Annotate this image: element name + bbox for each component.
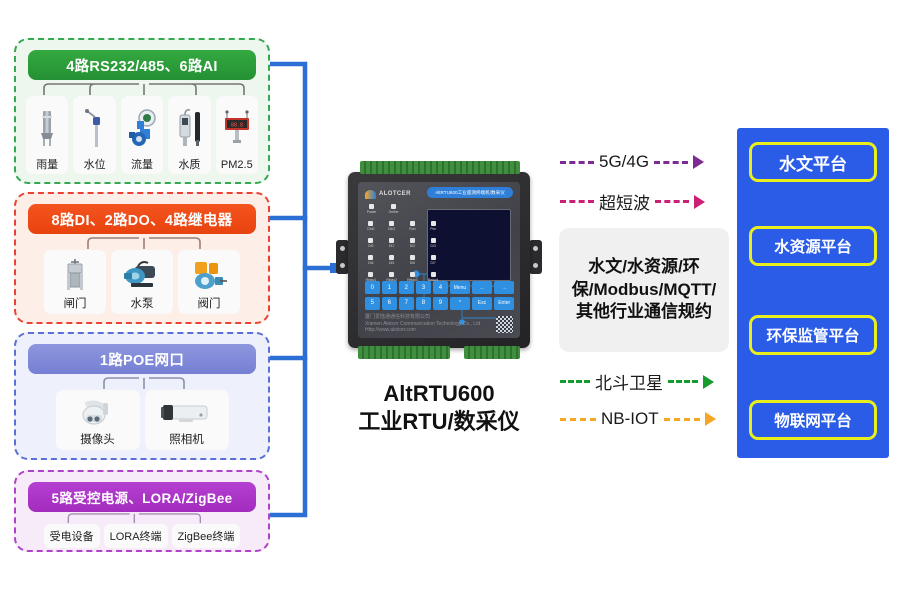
valve-actuator-icon [180,253,238,297]
led-di6: DI6 [407,255,419,265]
card-ptz-camera[interactable]: 摄像头 [56,390,140,450]
device-name-label: AltRTU600 工业RTU/数采仪 [330,380,548,436]
key-8[interactable]: 8 [416,297,431,310]
device-type-name: 工业RTU/数采仪 [330,408,548,436]
sluice-gate-icon [46,253,104,297]
dashed-line-left [560,200,594,203]
mounting-ear-right [529,240,542,274]
key-3[interactable]: 3 [416,281,431,294]
lcd-screen[interactable] [427,209,511,281]
led-din2: Din2 [386,221,398,231]
platform-hydrology[interactable]: 水文平台 [749,142,877,182]
brace-power [28,513,241,524]
key-5[interactable]: 5 [365,297,380,310]
arrow-head-icon [694,195,705,209]
sensor-card-list: 雨量 水位 [26,96,258,174]
key-6[interactable]: 6 [382,297,397,310]
key-esc[interactable]: Esc [472,297,492,310]
chip-lora-terminal[interactable]: LORA终端 [104,524,168,548]
dashed-line-left [560,161,594,164]
led-di3: DI3 [427,238,439,248]
group-header-serial-ai: 4路RS232/485、6路AI [28,50,256,80]
card-flow-meter[interactable]: 流量 [121,96,163,174]
endpoint-chip-list: 受电设备 LORA终端 ZigBee终端 [26,524,258,548]
terminal-block-bottom-left [358,346,450,359]
key-right-arrow[interactable]: → [494,281,514,294]
rtu-chassis: ALOTCER AltRTU600工业遥测终端机/数采仪 Power Onlin… [348,172,530,348]
key-7[interactable]: 7 [399,297,414,310]
water-pump-icon [113,253,171,297]
platform-environmental-supervision[interactable]: 环保监管平台 [749,315,877,355]
rain-gauge-icon [28,99,66,158]
link-label: 北斗卫星 [595,369,663,394]
dashed-line-left [560,418,596,421]
group-header-power-lora-zigbee: 5路受控电源、LORA/ZigBee [28,482,256,512]
water-quality-probe-icon [170,99,208,158]
card-label: PM2.5 [221,159,253,171]
led-row-di-low: DI0 DI1 DI2 DI3 [365,238,439,248]
company-name-en: Xiamen Alotcer Communication Technology … [365,321,480,328]
card-pm25[interactable]: 88.8 PM2.5 [216,96,258,174]
company-url: Http://www.alotcer.com [365,327,480,334]
camera-card-list: 摄像头 照相机 [26,390,258,450]
box-camera-icon [147,393,227,433]
link-nb-iot: NB-IOT [560,409,716,429]
diagram-canvas: 4路RS232/485、6路AI 雨量 [0,0,900,600]
actuator-card-list: 闸门 水泵 [26,250,258,314]
model-banner: AltRTU600工业遥测终端机/数采仪 [427,187,513,198]
qr-code-icon [496,316,513,333]
key-1[interactable]: 1 [382,281,397,294]
water-level-sensor-icon [75,99,113,158]
card-label: 水泵 [131,298,154,311]
card-box-camera[interactable]: 照相机 [145,390,229,450]
key-4[interactable]: 4 [433,281,448,294]
led-di2: DI2 [407,238,419,248]
alotcer-logo-icon [365,190,376,199]
device-model-name: AltRTU600 [330,380,548,408]
group-power-lora-zigbee: 5路受控电源、LORA/ZigBee 受电设备 LORA终端 ZigBee终端 [14,470,270,552]
keypad-row-1: 0 1 2 3 4 Menu ← → [365,281,514,294]
arrow-head-icon [705,412,716,426]
chip-zigbee-terminal[interactable]: ZigBee终端 [172,524,241,548]
rtu-device[interactable]: ALOTCER AltRTU600工业遥测终端机/数采仪 Power Onlin… [336,160,542,360]
pm25-sensor-icon: 88.8 [218,99,256,158]
link-ultra-short-wave: 超短波 [560,189,705,214]
link-5g-4g: 5G/4G [560,152,704,172]
link-label: 5G/4G [599,152,649,172]
led-online: Online [387,204,400,214]
brand-name: ALOTCER [379,191,411,197]
led-di5: DI5 [386,255,398,265]
company-name-cn: 厦门爱陆通通信科技有限公司 [365,314,480,321]
platform-panel: 水文平台 水资源平台 环保监管平台 物联网平台 [737,128,889,458]
key-9[interactable]: 9 [433,297,448,310]
dashed-line-right [664,418,700,421]
card-label: 雨量 [36,159,58,171]
link-label: 超短波 [599,189,650,214]
led-row-status: Din0 Din2 Run Pwr [365,221,439,231]
card-rain-gauge[interactable]: 雨量 [26,96,68,174]
brace-di-do-relay [28,236,260,250]
key-2[interactable]: 2 [399,281,414,294]
card-label: 照相机 [169,434,204,447]
card-valve[interactable]: 阀门 [178,250,240,314]
led-run: Run [407,221,419,231]
group-di-do-relay: 8路DI、2路DO、4路继电器 闸门 [14,192,270,324]
platform-water-resources[interactable]: 水资源平台 [749,226,877,266]
platform-iot[interactable]: 物联网平台 [749,400,877,440]
key-left-arrow[interactable]: ← [472,281,492,294]
arrow-head-icon [703,375,714,389]
standards-box: 水文/水资源/环保/Modbus/MQTT/其他行业通信规约 [559,228,729,352]
chip-powered-device[interactable]: 受电设备 [44,524,100,548]
terminal-block-bottom-right [464,346,520,359]
rtu-faceplate: ALOTCER AltRTU600工业遥测终端机/数采仪 Power Onlin… [358,182,520,338]
card-label: 摄像头 [80,434,115,447]
brace-poe [28,376,260,390]
group-header-poe-port: 1路POE网口 [28,344,256,374]
ptz-camera-icon [58,393,138,433]
group-serial-ai: 4路RS232/485、6路AI 雨量 [14,38,270,184]
led-di7: DI7 [427,255,439,265]
flow-meter-icon [123,99,161,158]
card-label: 闸门 [64,298,87,311]
card-label: 水质 [178,159,200,171]
device-footer-text: 厦门爱陆通通信科技有限公司 Xiamen Alotcer Communicati… [365,314,480,334]
card-sluice-gate[interactable]: 闸门 [44,250,106,314]
card-label: 阀门 [198,298,221,311]
key-0[interactable]: 0 [365,281,380,294]
arrow-head-icon [693,155,704,169]
card-label: 流量 [131,159,153,171]
led-pwr: Pwr [427,221,439,231]
led-row-di-high: DI4 DI5 DI6 DI7 [365,255,439,265]
keypad-row-2: 5 6 7 8 9 * Esc Enter [365,297,514,310]
group-header-di-do-relay: 8路DI、2路DO、4路继电器 [28,204,256,234]
svg-text:88.8: 88.8 [231,123,243,129]
brace-serial-ai [28,82,260,96]
led-indicator-grid: Power Online Din0 Din2 Run Pwr DI0 DI1 D… [365,204,439,289]
terminal-block-top [360,161,520,174]
card-water-quality[interactable]: 水质 [168,96,210,174]
key-asterisk[interactable]: * [450,297,470,310]
led-power: Power [365,204,378,214]
card-water-pump[interactable]: 水泵 [111,250,173,314]
key-menu[interactable]: Menu [450,281,470,294]
led-din0: Din0 [365,221,377,231]
link-beidou-satellite: 北斗卫星 [560,369,714,394]
key-enter[interactable]: Enter [494,297,514,310]
led-row-power: Power Online [365,204,439,214]
led-di0: DI0 [365,238,377,248]
keypad[interactable]: 0 1 2 3 4 Menu ← → 5 6 7 8 9 [365,281,514,312]
led-di1: DI1 [386,238,398,248]
led-di4: DI4 [365,255,377,265]
group-poe-port: 1路POE网口 摄像头 [14,332,270,460]
card-label: 水位 [84,159,106,171]
dashed-line-right [655,200,689,203]
dashed-line-left [560,380,590,383]
dashed-line-right [654,161,688,164]
card-water-level[interactable]: 水位 [73,96,115,174]
link-label: NB-IOT [601,409,659,429]
dashed-line-right [668,380,698,383]
